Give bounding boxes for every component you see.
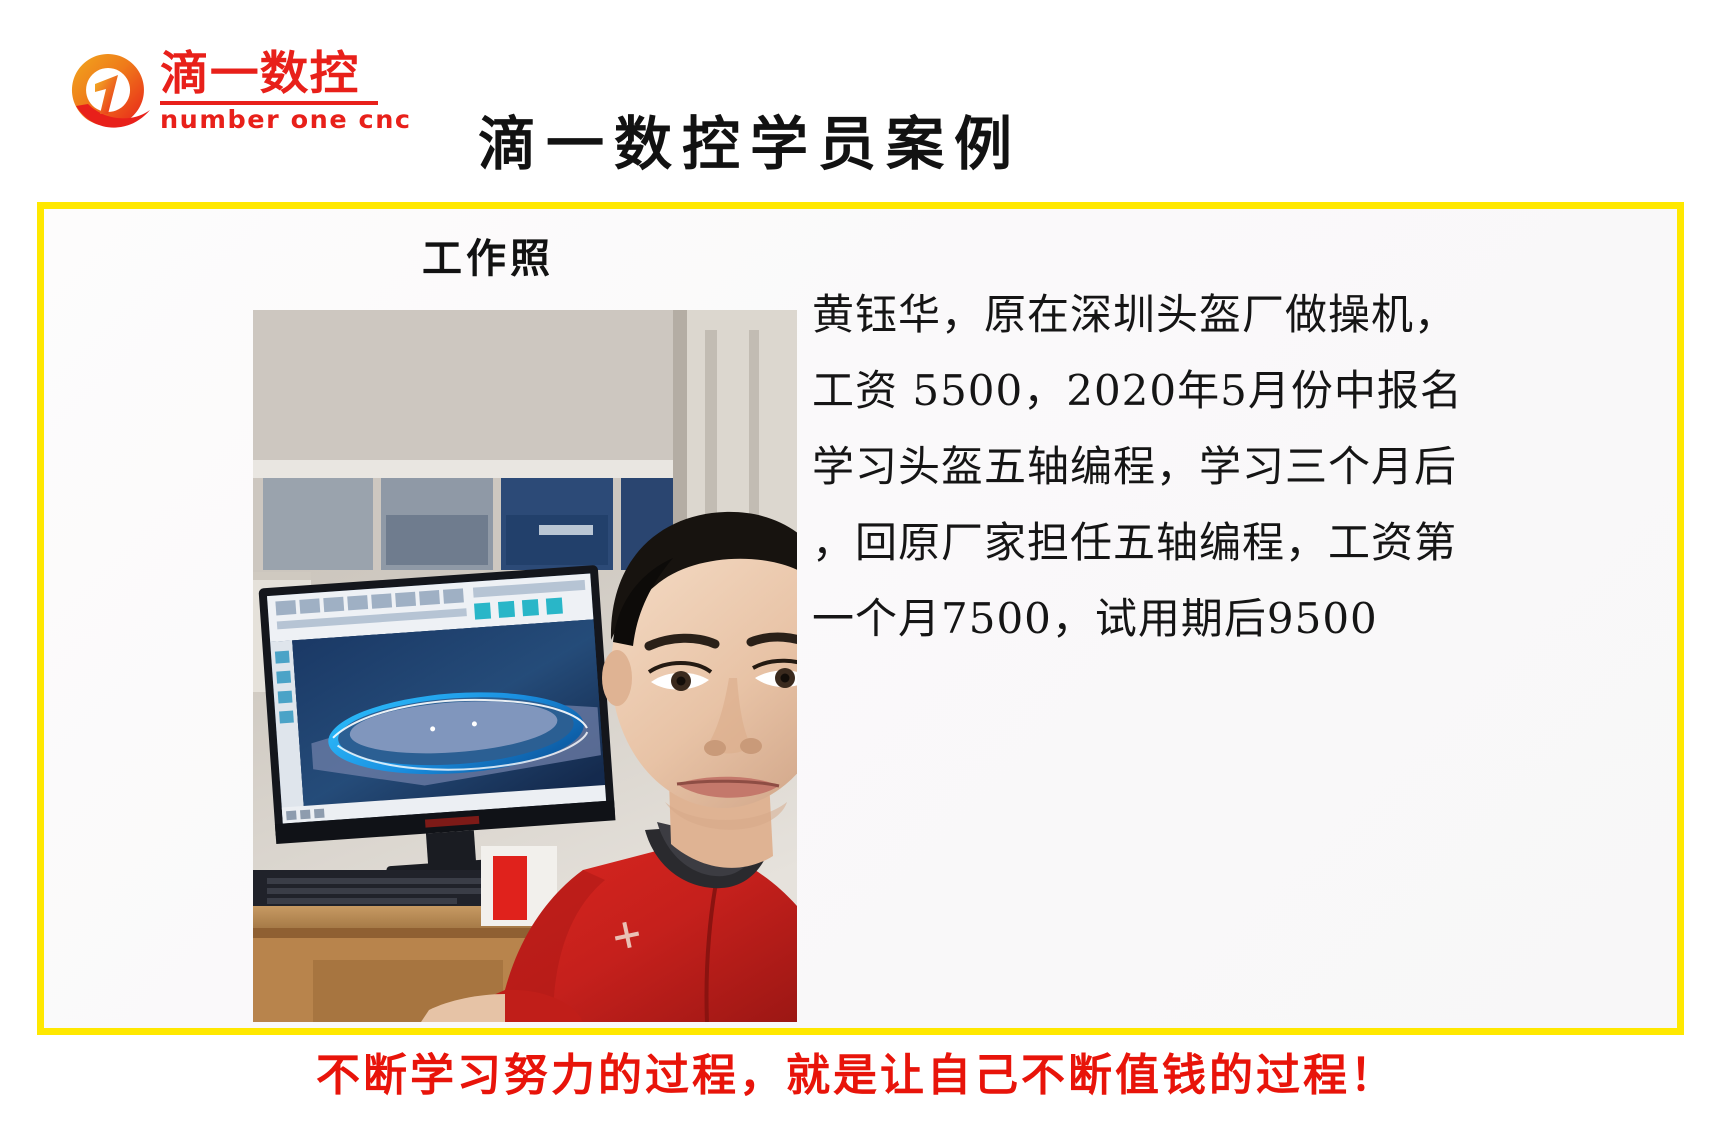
content-card: 工作照 — [37, 202, 1684, 1035]
story-line: 工资 5500，2020年5月份中报名 — [812, 353, 1652, 429]
story-line: 一个月7500，试用期后9500 — [812, 581, 1652, 657]
student-work-photo — [253, 310, 797, 1022]
story-line: 学习头盔五轴编程，学习三个月后 — [812, 429, 1652, 505]
story-line: 黄钰华，原在深圳头盔厂做操机， — [812, 277, 1652, 353]
photo-caption-label: 工作照 — [422, 235, 554, 283]
number-one-swoosh-logo-icon — [62, 48, 154, 140]
brand-wordmark: 滴一数控 number one cnc — [160, 48, 382, 140]
story-line: ，回原厂家担任五轴编程，工资第 — [812, 505, 1652, 581]
brand-name-english: number one cnc — [160, 105, 386, 134]
page-title: 滴一数控学员案例 — [430, 108, 1070, 180]
footer-slogan: 不断学习努力的过程，就是让自己不断值钱的过程！ — [0, 1048, 1713, 1104]
student-story-text: 黄钰华，原在深圳头盔厂做操机， 工资 5500，2020年5月份中报名 学习头盔… — [812, 277, 1652, 657]
brand-name-chinese: 滴一数控 — [160, 48, 395, 98]
brand-logo: 滴一数控 number one cnc — [62, 42, 382, 142]
